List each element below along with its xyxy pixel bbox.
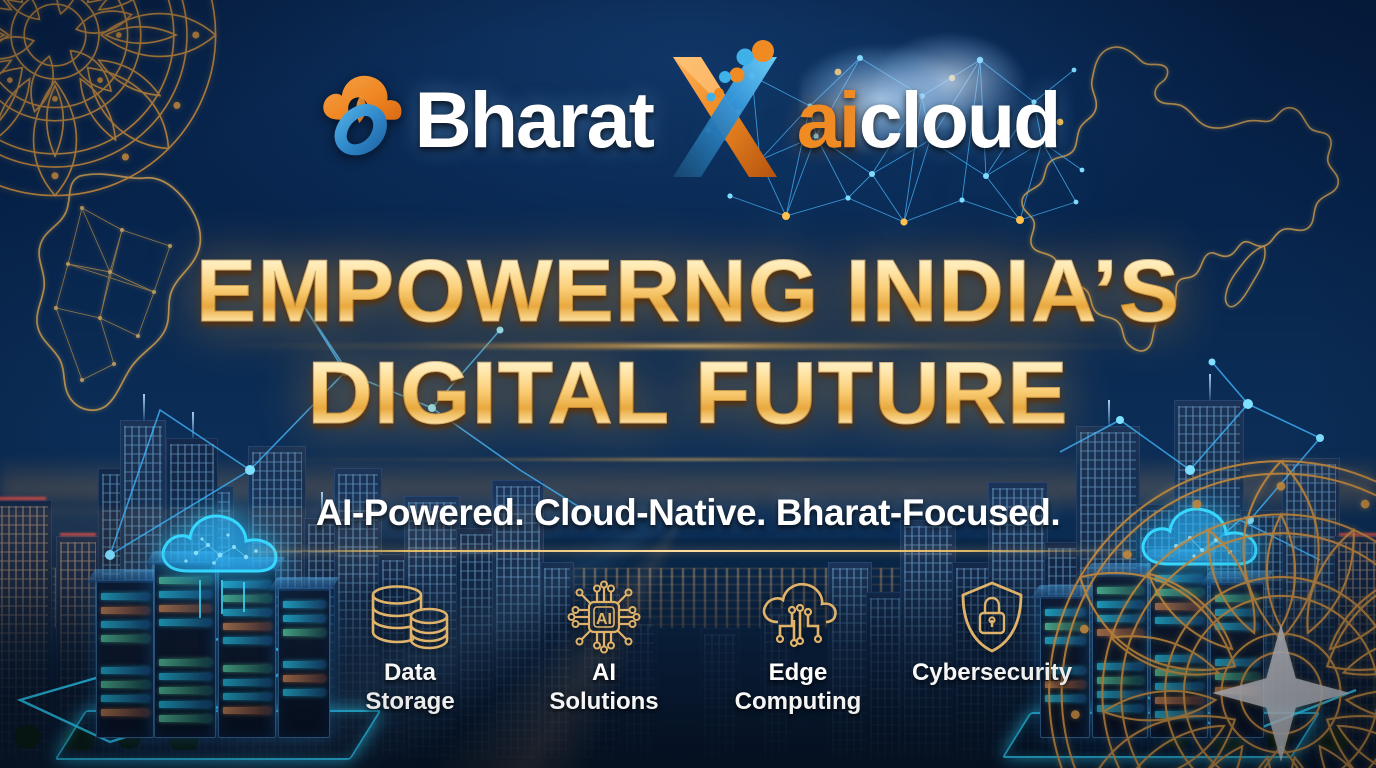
headline-line-2: DIGITAL FUTURE bbox=[0, 350, 1376, 436]
brand-logo[interactable]: Bharat bbox=[0, 52, 1376, 182]
feature-edge-computing[interactable]: Edge Computing bbox=[722, 583, 874, 717]
feature-data-storage[interactable]: Data Storage bbox=[334, 583, 486, 717]
feature-cybersecurity[interactable]: Cybersecurity bbox=[916, 583, 1068, 688]
headline-block: EMPOWERNG INDIA’S DIGITAL FUTURE bbox=[0, 248, 1376, 436]
edge-cloud-icon bbox=[756, 583, 840, 651]
database-icon bbox=[367, 583, 453, 651]
ai-chip-icon: AI bbox=[566, 583, 642, 651]
headline-line-1: EMPOWERNG INDIA’S bbox=[0, 248, 1376, 334]
svg-text:AI: AI bbox=[596, 611, 612, 628]
feature-label: AI Solutions bbox=[549, 659, 658, 717]
promo-banner: Bharat bbox=[0, 0, 1376, 768]
cloud-leaf-logo-icon bbox=[317, 69, 405, 165]
feature-ai-solutions[interactable]: AI AI Solutions bbox=[528, 583, 680, 717]
feature-label: Data Storage bbox=[365, 659, 454, 717]
logo-word-ai: ai bbox=[797, 75, 859, 164]
logo-wordmark: Bharat bbox=[415, 53, 1060, 181]
logo-word-bharat: Bharat bbox=[415, 75, 653, 164]
shield-lock-icon bbox=[957, 583, 1027, 651]
gold-divider bbox=[248, 550, 1128, 552]
tagline: AI-Powered. Cloud-Native. Bharat-Focused… bbox=[0, 492, 1376, 534]
logo-word-cloud: cloud bbox=[859, 75, 1060, 164]
feature-label: Cybersecurity bbox=[912, 659, 1072, 688]
feature-row: Data Storage bbox=[0, 583, 1376, 717]
feature-label: Edge Computing bbox=[735, 659, 862, 717]
logo-letter-x bbox=[667, 53, 783, 181]
headline-bottom-flare bbox=[238, 458, 1138, 461]
